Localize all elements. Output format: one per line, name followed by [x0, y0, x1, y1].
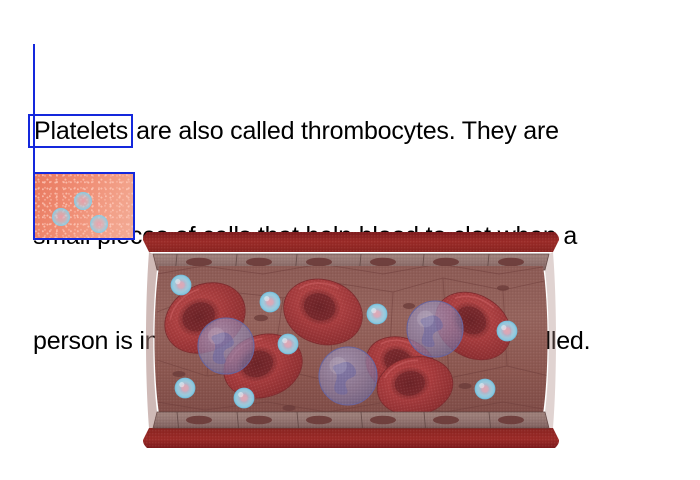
- endothelial-nucleus: [370, 416, 396, 425]
- thumbnail-platelet: [90, 215, 108, 233]
- endothelial-nucleus: [306, 416, 332, 425]
- platelet-highlight: [179, 382, 184, 387]
- platelet-highlight: [501, 325, 506, 330]
- platelets-closeup-thumbnail[interactable]: [33, 172, 135, 240]
- endothelium-band-bottom: [153, 412, 549, 428]
- endothelial-nucleus: [246, 416, 272, 425]
- thumbnail-platelet: [74, 192, 92, 210]
- platelet: [367, 304, 387, 324]
- platelet: [475, 379, 495, 399]
- endothelial-nucleus: [433, 258, 459, 267]
- wbc-highlight: [208, 328, 225, 345]
- endothelial-nucleus: [433, 416, 459, 425]
- thumbnail-platelet: [52, 208, 70, 226]
- endothelial-nucleus: [498, 258, 524, 267]
- endothelial-nucleus: [498, 416, 524, 425]
- wbc-texture: [319, 347, 377, 405]
- platelet-highlight: [264, 296, 269, 301]
- text-line-1: Plateletsare also called thrombocytes. T…: [33, 114, 683, 149]
- platelet-highlight: [282, 338, 287, 343]
- wbc-texture: [198, 318, 254, 374]
- endothelial-nucleus: [306, 258, 332, 267]
- blood-vessel-cross-section: [143, 226, 559, 454]
- platelet: [171, 275, 191, 295]
- highlighted-term-platelets[interactable]: Platelets: [28, 114, 133, 148]
- platelet: [278, 334, 298, 354]
- platelet-highlight: [479, 383, 484, 388]
- wbc-texture: [407, 301, 463, 357]
- platelet-highlight: [371, 308, 376, 313]
- endothelial-nucleus: [246, 258, 272, 267]
- white-blood-cell: [407, 301, 463, 357]
- endothelial-nucleus: [370, 258, 396, 267]
- platelet: [260, 292, 280, 312]
- white-blood-cell: [319, 347, 377, 405]
- text-line-1-rest: are also called thrombocytes. They are: [136, 117, 559, 145]
- platelet-highlight: [238, 392, 243, 397]
- endothelial-nucleus: [186, 258, 212, 267]
- wbc-highlight: [417, 311, 434, 328]
- vessel-lumen: [143, 262, 559, 421]
- white-blood-cell: [198, 318, 254, 374]
- wbc-highlight: [329, 357, 346, 374]
- platelet: [234, 388, 254, 408]
- platelet: [175, 378, 195, 398]
- platelet-highlight: [175, 279, 180, 284]
- platelet: [497, 321, 517, 341]
- endothelial-nucleus: [186, 416, 212, 425]
